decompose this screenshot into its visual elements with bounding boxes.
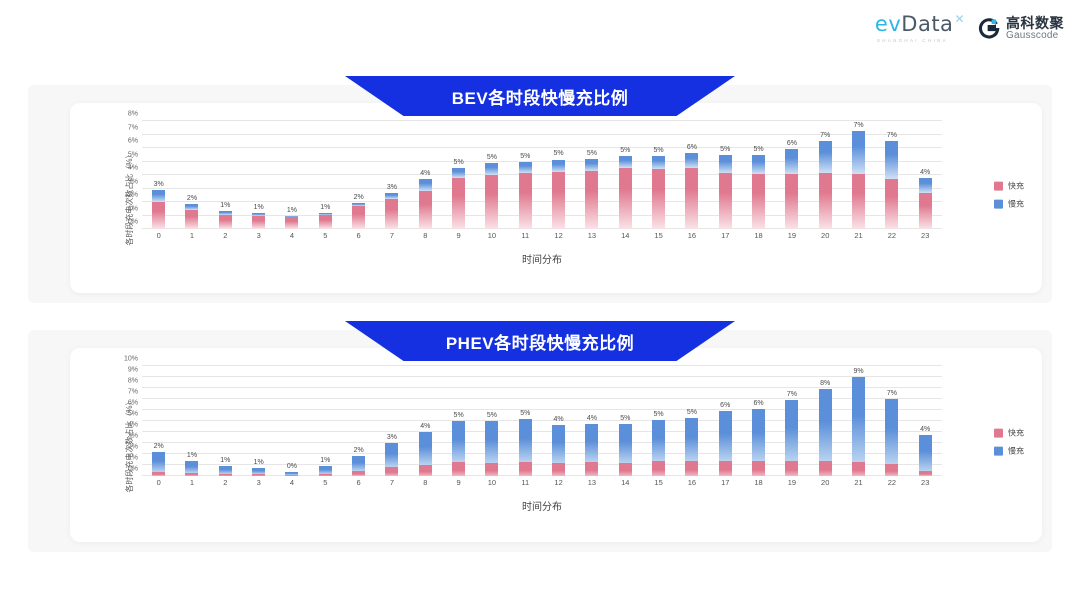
phev-x-tick: 10 bbox=[475, 478, 508, 487]
bev-bar-value-label: 1% bbox=[287, 207, 297, 214]
phev-bar-segment-fast[interactable] bbox=[319, 474, 332, 476]
bev-bar-segment-fast[interactable] bbox=[352, 206, 365, 229]
phev-x-tick: 8 bbox=[409, 478, 442, 487]
bev-bar-stack[interactable]: 5% bbox=[485, 163, 498, 229]
bev-bar-stack[interactable]: 5% bbox=[452, 168, 465, 229]
bev-title-ribbon: BEV各时段快慢充比例 bbox=[345, 76, 735, 116]
phev-bar-segment-slow[interactable] bbox=[519, 419, 532, 462]
phev-bar-column[interactable]: 5% bbox=[442, 366, 475, 476]
phev-bar-stack[interactable]: 1% bbox=[219, 466, 232, 476]
phev-bar-segment-slow[interactable] bbox=[685, 418, 698, 461]
phev-bar-segment-slow[interactable] bbox=[752, 409, 765, 460]
bev-bar-segment-fast[interactable] bbox=[685, 168, 698, 229]
bev-bar-stack[interactable]: 1% bbox=[219, 211, 232, 229]
phev-y-tick: 6% bbox=[128, 400, 138, 407]
phev-legend-item-slow: 慢充 bbox=[994, 446, 1024, 457]
bev-bar-column[interactable]: 2% bbox=[342, 121, 375, 229]
phev-y-tick: 5% bbox=[128, 411, 138, 418]
bev-bar-stack[interactable]: 4% bbox=[919, 178, 932, 229]
phev-title-ribbon: PHEV各时段快慢充比例 bbox=[345, 321, 735, 361]
phev-bar-segment-fast[interactable] bbox=[585, 462, 598, 476]
phev-bar-column[interactable]: 3% bbox=[375, 366, 408, 476]
bev-bar-value-label: 3% bbox=[387, 184, 397, 191]
phev-bar-segment-fast[interactable] bbox=[352, 471, 365, 476]
phev-bar-stack[interactable]: 0% bbox=[285, 472, 298, 476]
gausscode-logo: 高科数聚 Gausscode bbox=[978, 16, 1064, 41]
phev-bar-value-label: 1% bbox=[187, 452, 197, 459]
evdata-logo: evData✕ SHANGHAI CHINA bbox=[875, 14, 964, 43]
bev-x-tick: 11 bbox=[509, 231, 542, 240]
phev-bar-stack[interactable]: 5% bbox=[685, 418, 698, 476]
phev-bar-stack[interactable]: 5% bbox=[485, 421, 498, 476]
phev-bar-stack[interactable]: 4% bbox=[419, 432, 432, 476]
phev-bar-column[interactable]: 4% bbox=[409, 366, 442, 476]
bev-bar-segment-slow[interactable] bbox=[519, 162, 532, 173]
phev-bar-segment-slow[interactable] bbox=[319, 466, 332, 474]
phev-x-tick: 0 bbox=[142, 478, 175, 487]
phev-bar-column[interactable]: 2% bbox=[342, 366, 375, 476]
bev-bar-segment-fast[interactable] bbox=[752, 174, 765, 229]
phev-bar-column[interactable]: 4% bbox=[909, 366, 942, 476]
bev-bar-stack[interactable]: 6% bbox=[685, 153, 698, 229]
bev-y-tick: 6% bbox=[128, 138, 138, 145]
phev-legend-label-fast: 快充 bbox=[1008, 428, 1024, 439]
phev-bar-segment-slow[interactable] bbox=[419, 432, 432, 465]
phev-bar-segment-slow[interactable] bbox=[585, 424, 598, 462]
bev-bar-column[interactable]: 1% bbox=[209, 121, 242, 229]
bev-bar-segment-fast[interactable] bbox=[819, 173, 832, 229]
bev-bar-value-label: 5% bbox=[654, 147, 664, 154]
phev-bar-segment-fast[interactable] bbox=[219, 474, 232, 476]
phev-chart: 各时段充电次数占比（%） 0%1%2%3%4%5%6%7%8%9%10% 2%1… bbox=[70, 348, 1042, 542]
bev-bar-segment-fast[interactable] bbox=[419, 191, 432, 229]
bev-bar-value-label: 2% bbox=[187, 195, 197, 202]
phev-bar-column[interactable]: 5% bbox=[642, 366, 675, 476]
phev-bar-segment-fast[interactable] bbox=[152, 472, 165, 476]
phev-bar-segment-fast[interactable] bbox=[252, 474, 265, 476]
page-header: evData✕ SHANGHAI CHINA 高科数聚 Gausscode bbox=[0, 0, 1080, 62]
slow-charge-swatch-icon bbox=[994, 200, 1003, 209]
phev-bar-stack[interactable]: 4% bbox=[919, 435, 932, 476]
phev-y-tick: 2% bbox=[128, 444, 138, 451]
phev-bar-column[interactable]: 4% bbox=[575, 366, 608, 476]
phev-bar-stack[interactable]: 9% bbox=[852, 377, 865, 476]
phev-y-tick: 10% bbox=[124, 356, 138, 363]
phev-x-tick: 5 bbox=[309, 478, 342, 487]
bev-bar-column[interactable]: 4% bbox=[909, 121, 942, 229]
bev-bar-stack[interactable]: 1% bbox=[252, 213, 265, 229]
phev-bar-stack[interactable]: 4% bbox=[585, 424, 598, 476]
phev-bar-value-label: 3% bbox=[387, 434, 397, 441]
phev-x-tick: 13 bbox=[575, 478, 608, 487]
phev-bar-value-label: 6% bbox=[754, 400, 764, 407]
phev-bar-segment-fast[interactable] bbox=[619, 463, 632, 476]
phev-bar-stack[interactable]: 5% bbox=[652, 420, 665, 476]
bev-bar-stack[interactable]: 2% bbox=[185, 204, 198, 229]
phev-bar-stack[interactable]: 1% bbox=[319, 466, 332, 476]
bev-x-axis-ticks: 01234567891011121314151617181920212223 bbox=[142, 231, 942, 240]
bev-bar-value-label: 5% bbox=[754, 146, 764, 153]
bev-bar-segment-fast[interactable] bbox=[152, 202, 165, 229]
bev-bar-segment-slow[interactable] bbox=[485, 163, 498, 175]
phev-bar-stack[interactable]: 6% bbox=[752, 409, 765, 476]
bev-bar-column[interactable]: 5% bbox=[542, 121, 575, 229]
bev-bar-segment-slow[interactable] bbox=[885, 141, 898, 179]
phev-plot-area: 0%1%2%3%4%5%6%7%8%9%10% 2%1%1%1%0%1%2%3%… bbox=[142, 366, 942, 476]
phev-bar-stack[interactable]: 4% bbox=[552, 425, 565, 476]
bev-bar-value-label: 3% bbox=[154, 181, 164, 188]
bev-bar-stack[interactable]: 7% bbox=[819, 141, 832, 229]
bev-bar-segment-fast[interactable] bbox=[552, 172, 565, 229]
phev-bar-stack[interactable]: 2% bbox=[352, 456, 365, 476]
phev-bar-value-label: 1% bbox=[254, 459, 264, 466]
bev-bar-stack[interactable]: 5% bbox=[752, 155, 765, 229]
phev-bar-column[interactable]: 9% bbox=[842, 366, 875, 476]
bev-x-tick: 23 bbox=[909, 231, 942, 240]
phev-bar-segment-slow[interactable] bbox=[919, 435, 932, 471]
bev-y-tick: 4% bbox=[128, 165, 138, 172]
phev-bar-segment-slow[interactable] bbox=[619, 424, 632, 462]
bev-bar-segment-fast[interactable] bbox=[219, 215, 232, 229]
phev-bar-value-label: 5% bbox=[487, 412, 497, 419]
bev-x-tick: 19 bbox=[775, 231, 808, 240]
bev-bar-segment-fast[interactable] bbox=[252, 216, 265, 229]
phev-bar-column[interactable]: 5% bbox=[509, 366, 542, 476]
phev-x-tick: 4 bbox=[275, 478, 308, 487]
bev-legend: 快充 慢充 bbox=[994, 181, 1024, 210]
bev-bar-segment-fast[interactable] bbox=[719, 173, 732, 229]
phev-bar-segment-slow[interactable] bbox=[819, 389, 832, 460]
bev-bar-column[interactable]: 7% bbox=[809, 121, 842, 229]
phev-bar-segment-slow[interactable] bbox=[885, 399, 898, 464]
phev-bar-stack[interactable]: 7% bbox=[785, 400, 798, 476]
bev-panel: 各时段充电次数占比（%） 0%1%2%3%4%5%6%7%8% 3%2%1%1%… bbox=[28, 85, 1052, 303]
phev-bar-segment-fast[interactable] bbox=[552, 463, 565, 476]
bev-y-tick: 7% bbox=[128, 124, 138, 131]
bev-x-tick: 22 bbox=[875, 231, 908, 240]
bev-legend-label-fast: 快充 bbox=[1008, 181, 1024, 192]
phev-bar-stack[interactable]: 7% bbox=[885, 399, 898, 476]
phev-bar-value-label: 0% bbox=[287, 463, 297, 470]
phev-bar-segment-slow[interactable] bbox=[385, 443, 398, 467]
phev-x-tick: 21 bbox=[842, 478, 875, 487]
bev-bar-segment-slow[interactable] bbox=[785, 149, 798, 174]
bev-bar-segment-slow[interactable] bbox=[585, 159, 598, 171]
bev-chart-card: 各时段充电次数占比（%） 0%1%2%3%4%5%6%7%8% 3%2%1%1%… bbox=[70, 103, 1042, 293]
phev-bar-segment-slow[interactable] bbox=[719, 411, 732, 461]
phev-bar-value-label: 4% bbox=[587, 415, 597, 422]
bev-bar-segment-fast[interactable] bbox=[919, 193, 932, 229]
bev-bar-segment-fast[interactable] bbox=[485, 175, 498, 229]
bev-bar-stack[interactable]: 7% bbox=[885, 141, 898, 229]
evdata-logo-ev: ev bbox=[875, 12, 901, 36]
bev-bar-column[interactable]: 1% bbox=[275, 121, 308, 229]
bev-bar-stack[interactable]: 1% bbox=[285, 216, 298, 230]
bev-bar-stack[interactable]: 5% bbox=[719, 155, 732, 229]
phev-bar-column[interactable]: 5% bbox=[475, 366, 508, 476]
bev-bar-column[interactable]: 6% bbox=[675, 121, 708, 229]
bev-bar-column[interactable]: 4% bbox=[409, 121, 442, 229]
phev-legend-label-slow: 慢充 bbox=[1008, 446, 1024, 457]
bev-bar-column[interactable]: 5% bbox=[475, 121, 508, 229]
phev-bar-stack[interactable]: 1% bbox=[252, 468, 265, 476]
phev-bar-value-label: 4% bbox=[554, 416, 564, 423]
phev-y-tick: 7% bbox=[128, 389, 138, 396]
phev-bar-value-label: 4% bbox=[420, 423, 430, 430]
phev-bar-column[interactable]: 1% bbox=[209, 366, 242, 476]
bev-bar-value-label: 7% bbox=[853, 122, 863, 129]
bev-bar-segment-fast[interactable] bbox=[519, 173, 532, 229]
bev-bar-segment-slow[interactable] bbox=[419, 179, 432, 190]
phev-bar-column[interactable]: 6% bbox=[709, 366, 742, 476]
bev-x-tick: 0 bbox=[142, 231, 175, 240]
bev-y-tick: 8% bbox=[128, 111, 138, 118]
phev-bar-segment-fast[interactable] bbox=[885, 464, 898, 476]
bev-bar-value-label: 2% bbox=[354, 194, 364, 201]
phev-bar-segment-fast[interactable] bbox=[519, 462, 532, 476]
bev-x-tick: 20 bbox=[809, 231, 842, 240]
phev-y-tick: 0% bbox=[128, 466, 138, 473]
phev-x-tick: 15 bbox=[642, 478, 675, 487]
bev-bar-value-label: 5% bbox=[554, 150, 564, 157]
bev-plot-area: 0%1%2%3%4%5%6%7%8% 3%2%1%1%1%1%2%3%4%5%5… bbox=[142, 121, 942, 229]
phev-bar-column[interactable]: 1% bbox=[242, 366, 275, 476]
bev-bar-stack[interactable]: 4% bbox=[419, 179, 432, 229]
bev-y-tick: 1% bbox=[128, 205, 138, 212]
bev-bar-column[interactable]: 5% bbox=[575, 121, 608, 229]
bev-bar-segment-fast[interactable] bbox=[885, 179, 898, 229]
phev-bar-segment-slow[interactable] bbox=[152, 452, 165, 472]
phev-bar-segment-fast[interactable] bbox=[652, 461, 665, 476]
phev-bar-column[interactable]: 8% bbox=[809, 366, 842, 476]
bev-bar-column[interactable]: 7% bbox=[875, 121, 908, 229]
phev-bar-stack[interactable]: 2% bbox=[152, 452, 165, 476]
phev-bar-segment-slow[interactable] bbox=[852, 377, 865, 462]
evdata-logo-wordmark: evData✕ bbox=[875, 14, 964, 35]
phev-x-tick: 17 bbox=[709, 478, 742, 487]
bev-bar-stack[interactable]: 5% bbox=[552, 159, 565, 229]
phev-bar-stack[interactable]: 3% bbox=[385, 443, 398, 476]
phev-y-tick: 9% bbox=[128, 367, 138, 374]
bev-bar-stack[interactable]: 2% bbox=[352, 203, 365, 229]
bev-bar-column[interactable]: 2% bbox=[175, 121, 208, 229]
bev-x-tick: 21 bbox=[842, 231, 875, 240]
bev-bar-segment-fast[interactable] bbox=[852, 174, 865, 229]
bev-bar-value-label: 5% bbox=[587, 150, 597, 157]
bev-x-tick: 2 bbox=[209, 231, 242, 240]
bev-bar-stack[interactable]: 6% bbox=[785, 149, 798, 229]
bev-bar-value-label: 4% bbox=[920, 169, 930, 176]
phev-x-tick: 23 bbox=[909, 478, 942, 487]
phev-x-tick: 16 bbox=[675, 478, 708, 487]
phev-x-tick: 7 bbox=[375, 478, 408, 487]
bev-bar-stack[interactable]: 5% bbox=[519, 162, 532, 230]
bev-bar-stack[interactable]: 3% bbox=[385, 193, 398, 229]
bev-bar-segment-slow[interactable] bbox=[452, 168, 465, 179]
phev-legend: 快充 慢充 bbox=[994, 428, 1024, 457]
phev-bar-value-label: 9% bbox=[853, 368, 863, 375]
phev-bar-column[interactable]: 5% bbox=[609, 366, 642, 476]
bev-bar-column[interactable]: 5% bbox=[609, 121, 642, 229]
phev-bar-segment-fast[interactable] bbox=[452, 462, 465, 476]
evdata-logo-subtitle: SHANGHAI CHINA bbox=[877, 38, 948, 43]
bev-x-tick: 10 bbox=[475, 231, 508, 240]
gausscode-text: 高科数聚 Gausscode bbox=[1006, 16, 1064, 41]
bev-bar-segment-fast[interactable] bbox=[452, 178, 465, 229]
bev-bar-segment-fast[interactable] bbox=[619, 168, 632, 229]
phev-bar-column[interactable]: 1% bbox=[175, 366, 208, 476]
phev-bar-column[interactable]: 5% bbox=[675, 366, 708, 476]
bev-bar-column[interactable]: 3% bbox=[375, 121, 408, 229]
bev-bar-stack[interactable]: 5% bbox=[585, 159, 598, 229]
phev-x-axis-title: 时间分布 bbox=[142, 498, 942, 513]
bev-bar-value-label: 1% bbox=[320, 204, 330, 211]
bev-legend-item-fast: 快充 bbox=[994, 181, 1024, 192]
bev-bar-segment-slow[interactable] bbox=[919, 178, 932, 194]
phev-y-tick: 8% bbox=[128, 378, 138, 385]
bev-bar-segment-fast[interactable] bbox=[319, 215, 332, 229]
evdata-logo-x-icon: ✕ bbox=[954, 12, 965, 26]
bev-bar-value-label: 6% bbox=[787, 140, 797, 147]
phev-bar-segment-slow[interactable] bbox=[452, 421, 465, 462]
phev-x-tick: 1 bbox=[175, 478, 208, 487]
phev-x-tick: 6 bbox=[342, 478, 375, 487]
phev-bar-segment-fast[interactable] bbox=[285, 475, 298, 476]
phev-bar-value-label: 5% bbox=[687, 409, 697, 416]
bev-bar-column[interactable]: 5% bbox=[509, 121, 542, 229]
bev-bar-segment-fast[interactable] bbox=[185, 210, 198, 229]
phev-bar-segment-slow[interactable] bbox=[552, 425, 565, 462]
bev-bar-segment-fast[interactable] bbox=[385, 199, 398, 229]
logo-group: evData✕ SHANGHAI CHINA 高科数聚 Gausscode bbox=[875, 14, 1064, 43]
phev-bar-segment-fast[interactable] bbox=[385, 467, 398, 476]
bev-bar-segment-slow[interactable] bbox=[752, 155, 765, 174]
bev-bar-column[interactable]: 5% bbox=[442, 121, 475, 229]
bev-x-tick: 1 bbox=[175, 231, 208, 240]
bev-bar-segment-slow[interactable] bbox=[685, 153, 698, 168]
phev-panel: 各时段充电次数占比（%） 0%1%2%3%4%5%6%7%8%9%10% 2%1… bbox=[28, 330, 1052, 552]
phev-bar-stack[interactable]: 5% bbox=[452, 421, 465, 476]
bev-x-tick: 7 bbox=[375, 231, 408, 240]
phev-bar-stack[interactable]: 6% bbox=[719, 411, 732, 476]
phev-legend-item-fast: 快充 bbox=[994, 428, 1024, 439]
bev-bar-value-label: 6% bbox=[687, 144, 697, 151]
bev-bar-segment-fast[interactable] bbox=[785, 174, 798, 229]
bev-bar-column[interactable]: 5% bbox=[742, 121, 775, 229]
phev-bar-column[interactable]: 0% bbox=[275, 366, 308, 476]
bev-bar-column[interactable]: 7% bbox=[842, 121, 875, 229]
phev-x-tick: 19 bbox=[775, 478, 808, 487]
bev-bar-column[interactable]: 6% bbox=[775, 121, 808, 229]
bev-bar-column[interactable]: 1% bbox=[242, 121, 275, 229]
bev-bar-value-label: 5% bbox=[487, 154, 497, 161]
bev-bar-segment-slow[interactable] bbox=[652, 156, 665, 169]
bev-bars: 3%2%1%1%1%1%2%3%4%5%5%5%5%5%5%5%6%5%5%6%… bbox=[142, 121, 942, 229]
phev-bar-segment-fast[interactable] bbox=[185, 473, 198, 476]
phev-bar-value-label: 5% bbox=[520, 410, 530, 417]
phev-bar-column[interactable]: 7% bbox=[775, 366, 808, 476]
phev-bar-segment-fast[interactable] bbox=[419, 465, 432, 476]
bev-bar-column[interactable]: 5% bbox=[642, 121, 675, 229]
bev-bar-stack[interactable]: 7% bbox=[852, 131, 865, 229]
bev-bar-segment-slow[interactable] bbox=[819, 141, 832, 173]
bev-bar-value-label: 5% bbox=[720, 146, 730, 153]
phev-bar-stack[interactable]: 1% bbox=[185, 461, 198, 476]
bev-bar-stack[interactable]: 5% bbox=[652, 156, 665, 229]
bev-bar-segment-fast[interactable] bbox=[285, 217, 298, 229]
phev-bar-value-label: 1% bbox=[220, 457, 230, 464]
bev-bar-segment-slow[interactable] bbox=[552, 160, 565, 172]
phev-bar-stack[interactable]: 5% bbox=[519, 419, 532, 476]
bev-x-tick: 14 bbox=[609, 231, 642, 240]
bev-x-tick: 15 bbox=[642, 231, 675, 240]
bev-bar-column[interactable]: 5% bbox=[709, 121, 742, 229]
bev-bar-column[interactable]: 1% bbox=[309, 121, 342, 229]
bev-bar-value-label: 4% bbox=[420, 170, 430, 177]
phev-bar-segment-fast[interactable] bbox=[752, 461, 765, 476]
bev-y-tick: 0% bbox=[128, 219, 138, 226]
phev-bar-value-label: 8% bbox=[820, 380, 830, 387]
phev-x-axis-ticks: 01234567891011121314151617181920212223 bbox=[142, 478, 942, 487]
bev-bar-stack[interactable]: 1% bbox=[319, 213, 332, 229]
phev-bar-column[interactable]: 2% bbox=[142, 366, 175, 476]
bev-bar-segment-slow[interactable] bbox=[719, 155, 732, 173]
phev-bar-value-label: 5% bbox=[620, 415, 630, 422]
phev-bar-segment-fast[interactable] bbox=[819, 461, 832, 476]
bev-bar-value-label: 7% bbox=[820, 132, 830, 139]
bev-x-tick: 12 bbox=[542, 231, 575, 240]
phev-bar-segment-slow[interactable] bbox=[485, 421, 498, 463]
bev-bar-segment-slow[interactable] bbox=[852, 131, 865, 174]
phev-bar-segment-slow[interactable] bbox=[352, 456, 365, 470]
bev-bar-segment-slow[interactable] bbox=[619, 156, 632, 168]
phev-bar-segment-slow[interactable] bbox=[185, 461, 198, 473]
phev-bar-segment-fast[interactable] bbox=[719, 461, 732, 476]
fast-charge-swatch-icon bbox=[994, 182, 1003, 191]
phev-bar-stack[interactable]: 8% bbox=[819, 389, 832, 476]
bev-bar-segment-slow[interactable] bbox=[385, 193, 398, 200]
bev-legend-label-slow: 慢充 bbox=[1008, 199, 1024, 210]
phev-x-tick: 18 bbox=[742, 478, 775, 487]
phev-x-tick: 12 bbox=[542, 478, 575, 487]
phev-bar-segment-fast[interactable] bbox=[919, 471, 932, 477]
phev-chart-card: 各时段充电次数占比（%） 0%1%2%3%4%5%6%7%8%9%10% 2%1… bbox=[70, 348, 1042, 542]
phev-bar-stack[interactable]: 5% bbox=[619, 424, 632, 476]
bev-bar-stack[interactable]: 3% bbox=[152, 190, 165, 229]
phev-bar-column[interactable]: 4% bbox=[542, 366, 575, 476]
phev-bar-segment-slow[interactable] bbox=[652, 420, 665, 461]
phev-bar-column[interactable]: 7% bbox=[875, 366, 908, 476]
bev-bar-segment-fast[interactable] bbox=[652, 169, 665, 229]
phev-bar-column[interactable]: 1% bbox=[309, 366, 342, 476]
phev-bar-column[interactable]: 6% bbox=[742, 366, 775, 476]
phev-bar-segment-fast[interactable] bbox=[685, 461, 698, 476]
phev-bar-segment-fast[interactable] bbox=[485, 463, 498, 476]
phev-y-tick: 1% bbox=[128, 455, 138, 462]
phev-bar-segment-fast[interactable] bbox=[852, 462, 865, 476]
phev-bar-segment-slow[interactable] bbox=[785, 400, 798, 460]
bev-bar-column[interactable]: 3% bbox=[142, 121, 175, 229]
bev-bar-stack[interactable]: 5% bbox=[619, 156, 632, 229]
gausscode-name-en: Gausscode bbox=[1006, 31, 1064, 42]
phev-bar-segment-fast[interactable] bbox=[785, 461, 798, 476]
bev-bar-segment-slow[interactable] bbox=[152, 190, 165, 202]
bev-chart: 各时段充电次数占比（%） 0%1%2%3%4%5%6%7%8% 3%2%1%1%… bbox=[70, 103, 1042, 293]
bev-bar-segment-fast[interactable] bbox=[585, 171, 598, 229]
bev-x-tick: 13 bbox=[575, 231, 608, 240]
phev-bar-segment-slow[interactable] bbox=[219, 466, 232, 474]
bev-y-tick: 3% bbox=[128, 178, 138, 185]
